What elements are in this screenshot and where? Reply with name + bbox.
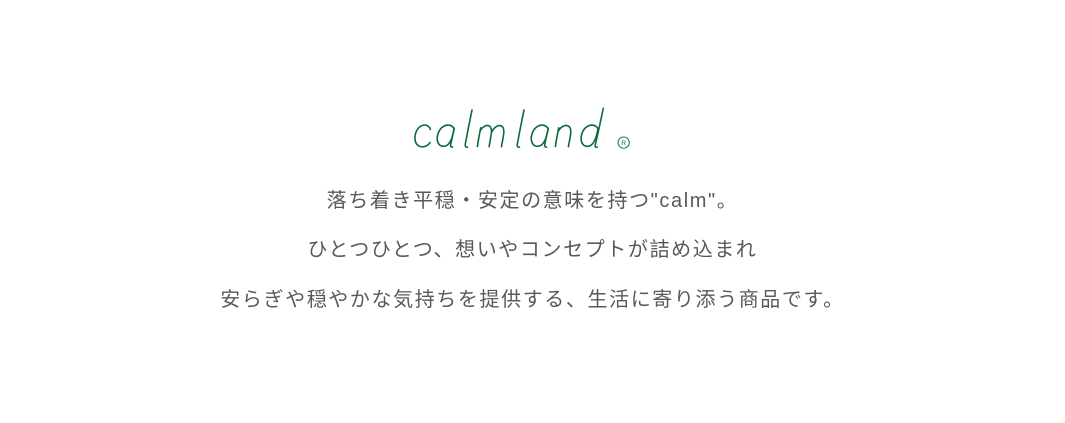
brand-logo-block: R calmland® <box>0 104 1065 156</box>
svg-text:R: R <box>621 140 626 147</box>
tagline-line-3: 安らぎや穏やかな気持ちを提供する、生活に寄り添う商品です。 <box>0 283 1065 312</box>
tagline-line-1: 落ち着き平穏・安定の意味を持つ"calm"。 <box>0 184 1065 213</box>
brand-intro-page: R calmland® 落ち着き平穏・安定の意味を持つ"calm"。 ひとつひと… <box>0 0 1065 423</box>
calmland-wordmark-icon: R <box>407 104 658 156</box>
tagline-line-2: ひとつひとつ、想いやコンセプトが詰め込まれ <box>0 233 1065 262</box>
